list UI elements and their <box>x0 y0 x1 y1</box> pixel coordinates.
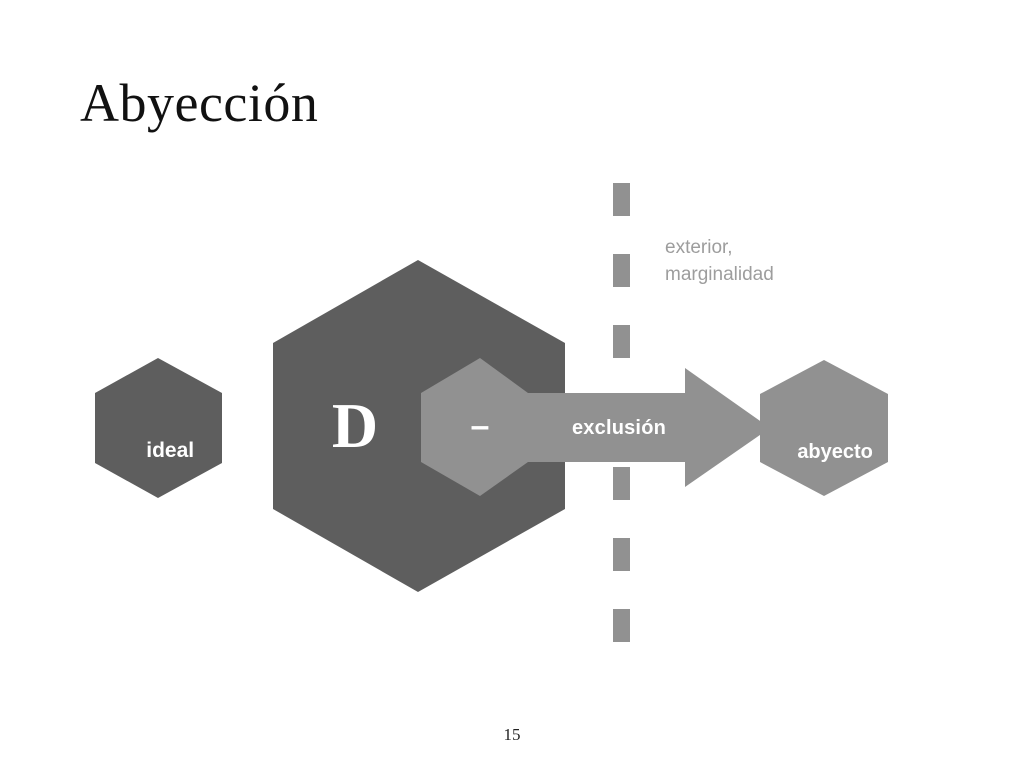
ideal-hexagon <box>95 358 222 498</box>
abjection-diagram <box>0 0 1024 768</box>
page-number: 15 <box>0 725 1024 745</box>
exterior-annotation: exterior, marginalidad <box>665 234 895 288</box>
abyecto-hexagon <box>760 360 888 496</box>
slide-canvas: Abyección i <box>0 0 1024 768</box>
